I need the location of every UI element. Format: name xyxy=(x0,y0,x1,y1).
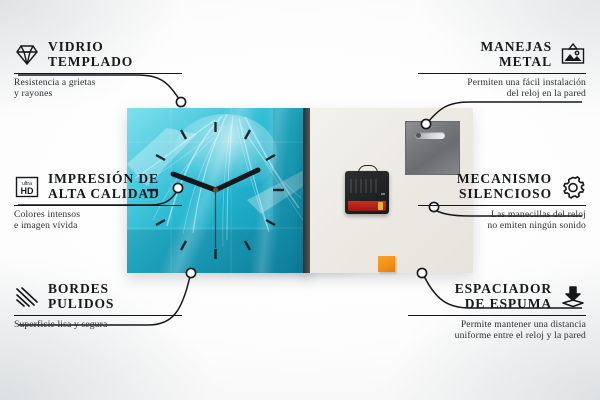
hanger-loop xyxy=(358,165,378,175)
feature-header: ESPACIADOR DE ESPUMA xyxy=(408,282,586,311)
feature-title: VIDRIO TEMPLADO xyxy=(48,40,133,69)
feature-manejas-metal[interactable]: MANEJAS METAL Permiten una fácil instala… xyxy=(418,40,586,100)
divider xyxy=(408,315,586,316)
divider xyxy=(14,205,182,206)
feature-title: BORDES PULIDOS xyxy=(48,282,114,311)
feature-title: ESPACIADOR DE ESPUMA xyxy=(455,282,552,311)
feature-header: VIDRIO TEMPLADO xyxy=(14,40,182,69)
diamond-icon xyxy=(14,43,40,67)
feature-header: ultra HD IMPRESIÓN DE ALTA CALIDAD xyxy=(14,172,182,201)
movement-marking xyxy=(381,193,385,195)
feature-title: IMPRESIÓN DE ALTA CALIDAD xyxy=(48,172,160,201)
feature-title: MANEJAS METAL xyxy=(480,40,552,69)
feature-header: MECANISMO SILENCIOSO xyxy=(418,172,586,201)
glass-edge xyxy=(303,108,310,273)
feature-header: BORDES PULIDOS xyxy=(14,282,182,311)
feature-subtitle: Colores intensos e imagen vívida xyxy=(14,209,182,232)
quartz-movement-box xyxy=(345,171,389,214)
gear-icon xyxy=(560,175,586,199)
feature-espaciador-espuma[interactable]: ESPACIADOR DE ESPUMA Permite mantener un… xyxy=(408,282,586,342)
feature-bordes-pulidos[interactable]: BORDES PULIDOS Superficie lisa y segura xyxy=(14,282,182,330)
diagonal-lines-icon xyxy=(14,285,40,309)
infographic-poster: VIDRIO TEMPLADO Resistencia a grietas y … xyxy=(0,0,600,400)
divider xyxy=(418,205,586,206)
feature-subtitle: Permite mantener una distancia uniforme … xyxy=(408,319,586,342)
divider xyxy=(14,73,182,74)
feature-subtitle: Superficie lisa y segura xyxy=(14,319,182,330)
divider xyxy=(14,315,182,316)
feature-subtitle: Permiten una fácil instalación del reloj… xyxy=(418,77,586,100)
feature-title: MECANISMO SILENCIOSO xyxy=(457,172,552,201)
feature-mecanismo-silencioso[interactable]: MECANISMO SILENCIOSO Las manecillas del … xyxy=(418,172,586,232)
metal-hanger-plate xyxy=(405,121,460,175)
feature-vidrio-templado[interactable]: VIDRIO TEMPLADO Resistencia a grietas y … xyxy=(14,40,182,100)
svg-text:HD: HD xyxy=(21,186,34,196)
feature-subtitle: Resistencia a grietas y rayones xyxy=(14,77,182,100)
divider xyxy=(418,73,586,74)
movement-texture xyxy=(350,179,380,193)
framed-picture-hanging-icon xyxy=(560,43,586,67)
feature-header: MANEJAS METAL xyxy=(418,40,586,69)
keyhole-slot xyxy=(415,132,445,139)
feature-subtitle: Las manecillas del reloj no emiten ningú… xyxy=(418,209,586,232)
battery xyxy=(348,201,386,211)
feature-impresion-alta-calidad[interactable]: ultra HD IMPRESIÓN DE ALTA CALIDAD Color… xyxy=(14,172,182,232)
arrow-down-onto-pad-icon xyxy=(560,285,586,309)
foam-spacer xyxy=(378,256,395,272)
ultra-hd-icon: ultra HD xyxy=(14,175,40,199)
